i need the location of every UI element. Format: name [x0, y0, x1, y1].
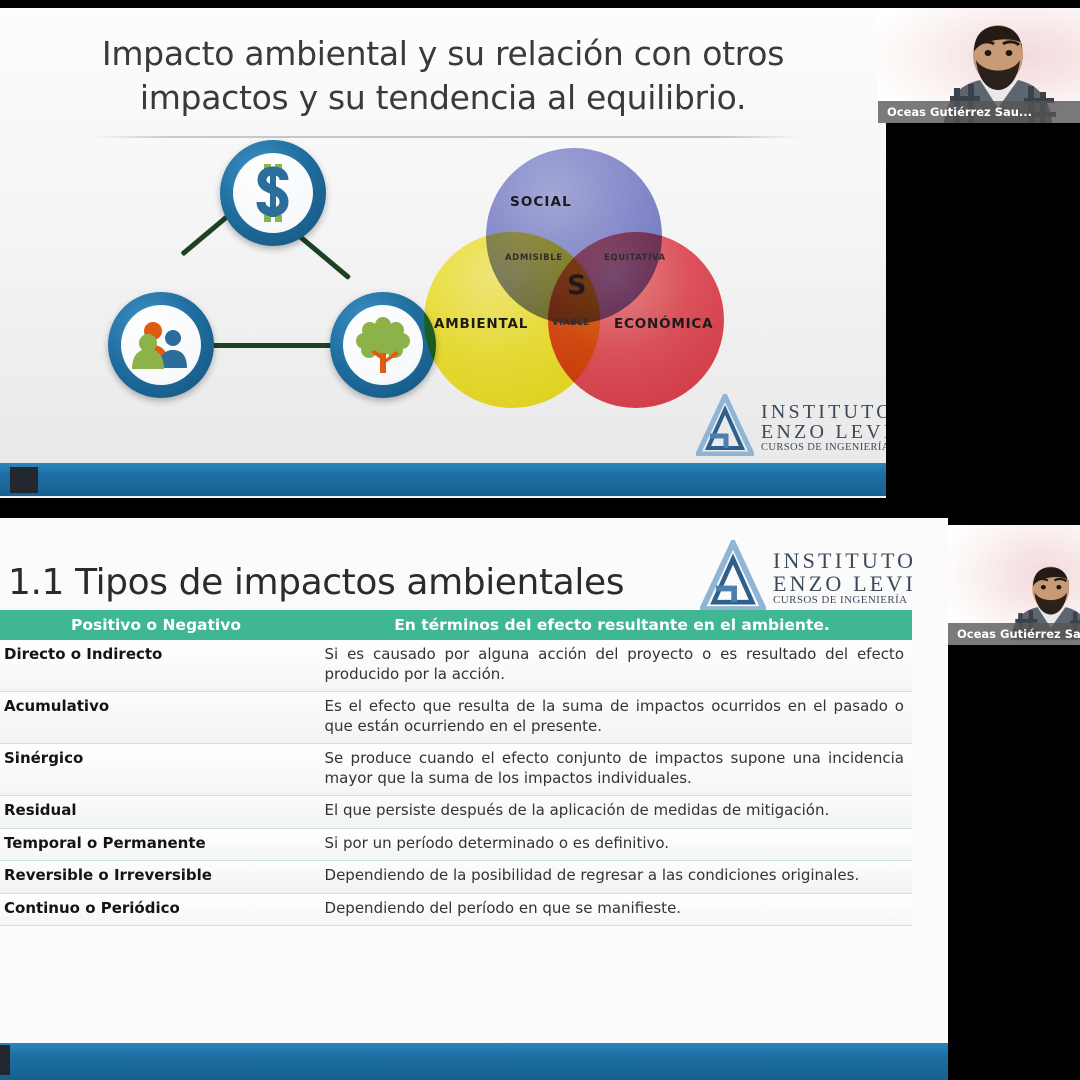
table-row: Reversible o Irreversible Dependiendo de…	[0, 861, 912, 894]
institute-logo-text-slide-2: INSTITUTO ENZO LEVI CURSOS DE INGENIERÍA	[773, 550, 916, 606]
slide-2-footer-marker	[0, 1045, 10, 1075]
sustainability-triangle-diagram	[108, 140, 438, 408]
table-row: Sinérgico Se produce cuando el efecto co…	[0, 744, 912, 796]
institute-logo-slide-2: INSTITUTO ENZO LEVI CURSOS DE INGENIERÍA	[700, 540, 916, 617]
screen: Impacto ambiental y su relación con otro…	[0, 0, 1080, 1080]
logo-line-institute: INSTITUTO	[773, 550, 916, 572]
table-cell-description: Es el efecto que resulta de la suma de i…	[319, 692, 912, 743]
venn-label-viable: VIABLE	[552, 318, 590, 328]
slide-2-footer-bar	[0, 1043, 948, 1080]
sustainability-venn-diagram: SOCIAL AMBIENTAL ECONÓMICA ADMISIBLE EQU…	[424, 148, 724, 410]
slide-1[interactable]: Impacto ambiental y su relación con otro…	[0, 8, 886, 498]
venn-label-ambiental: AMBIENTAL	[434, 316, 528, 332]
enzo-levi-triangle-icon	[700, 540, 766, 617]
slide-1-title-line-1: Impacto ambiental y su relación con otro…	[40, 32, 846, 76]
institute-logo-text-slide-1: INSTITUTO ENZO LEVI CURSOS DE INGENIERÍA	[761, 402, 886, 453]
dollar-sign-icon	[233, 153, 313, 233]
triangle-link-bottom	[208, 343, 340, 348]
participant-name-bar: Oceas Gutiérrez Sau...	[878, 101, 1080, 123]
table-cell-description: Dependiendo del período en que se manifi…	[319, 894, 912, 926]
table-row: Temporal o Permanente Si por un período …	[0, 829, 912, 862]
table-cell-description: El que persiste después de la aplicación…	[319, 796, 912, 828]
logo-line-institute: INSTITUTO	[761, 402, 886, 422]
slide-1-title: Impacto ambiental y su relación con otro…	[40, 32, 846, 119]
participant-name: Oceas Gutiérrez Sau...	[878, 105, 1032, 119]
video-tile-1[interactable]: Oceas Gutiérrez Sau...	[878, 8, 1080, 123]
tree-icon	[343, 305, 423, 385]
triangle-node-economy	[220, 140, 326, 246]
triangle-node-people	[108, 292, 214, 398]
table-cell-type: Continuo o Periódico	[0, 894, 319, 926]
venn-label-admisible: ADMISIBLE	[505, 253, 563, 263]
table-cell-type: Temporal o Permanente	[0, 829, 319, 861]
logo-line-enzo-levi: ENZO LEVI	[761, 422, 886, 442]
participant-name: Oceas Gutiérrez Sau...	[948, 627, 1080, 641]
table-row: Residual El que persiste después de la a…	[0, 796, 912, 829]
table-cell-type: Reversible o Irreversible	[0, 861, 319, 893]
table-cell-description: Se produce cuando el efecto conjunto de …	[319, 744, 912, 795]
table-cell-description: Dependiendo de la posibilidad de regresa…	[319, 861, 912, 893]
enzo-levi-triangle-icon	[696, 394, 754, 461]
table-row: Acumulativo Es el efecto que resulta de …	[0, 692, 912, 744]
slide-1-title-line-2: impactos y su tendencia al equilibrio.	[40, 76, 846, 120]
logo-line-tagline: CURSOS DE INGENIERÍA	[761, 443, 886, 454]
slide-1-footer-marker	[10, 467, 38, 493]
logo-line-tagline: CURSOS DE INGENIERÍA	[773, 595, 916, 606]
venn-label-equitativa: EQUITATIVA	[604, 253, 666, 263]
triangle-node-environment	[330, 292, 436, 398]
table-cell-type: Sinérgico	[0, 744, 319, 795]
participant-name-bar: Oceas Gutiérrez Sau...	[948, 623, 1080, 645]
venn-label-center-s: S	[567, 270, 586, 301]
title-divider	[88, 136, 800, 138]
people-icon	[121, 305, 201, 385]
table-header-row: Positivo o Negativo En términos del efec…	[0, 610, 912, 640]
institute-logo-slide-1: INSTITUTO ENZO LEVI CURSOS DE INGENIERÍA	[696, 394, 886, 461]
slide-1-footer-bar	[0, 463, 886, 496]
table-cell-type: Residual	[0, 796, 319, 828]
slide-2-title: 1.1 Tipos de impactos ambientales	[8, 562, 624, 603]
table-cell-type: Directo o Indirecto	[0, 640, 319, 691]
table-cell-description: Si es causado por alguna acción del proy…	[319, 640, 912, 691]
table-header-cell-description: En términos del efecto resultante en el …	[312, 616, 912, 634]
table-header-cell-type: Positivo o Negativo	[0, 616, 312, 634]
venn-label-social: SOCIAL	[510, 194, 572, 210]
impact-types-table: Positivo o Negativo En términos del efec…	[0, 610, 912, 926]
table-row: Continuo o Periódico Dependiendo del per…	[0, 894, 912, 927]
slide-2[interactable]: 1.1 Tipos de impactos ambientales INSTIT…	[0, 518, 948, 1080]
video-tile-2[interactable]: Oceas Gutiérrez Sau...	[948, 525, 1080, 645]
venn-label-economica: ECONÓMICA	[614, 316, 713, 332]
table-cell-description: Si por un período determinado o es defin…	[319, 829, 912, 861]
table-cell-type: Acumulativo	[0, 692, 319, 743]
logo-line-enzo-levi: ENZO LEVI	[773, 573, 916, 595]
table-row: Directo o Indirecto Si es causado por al…	[0, 640, 912, 692]
